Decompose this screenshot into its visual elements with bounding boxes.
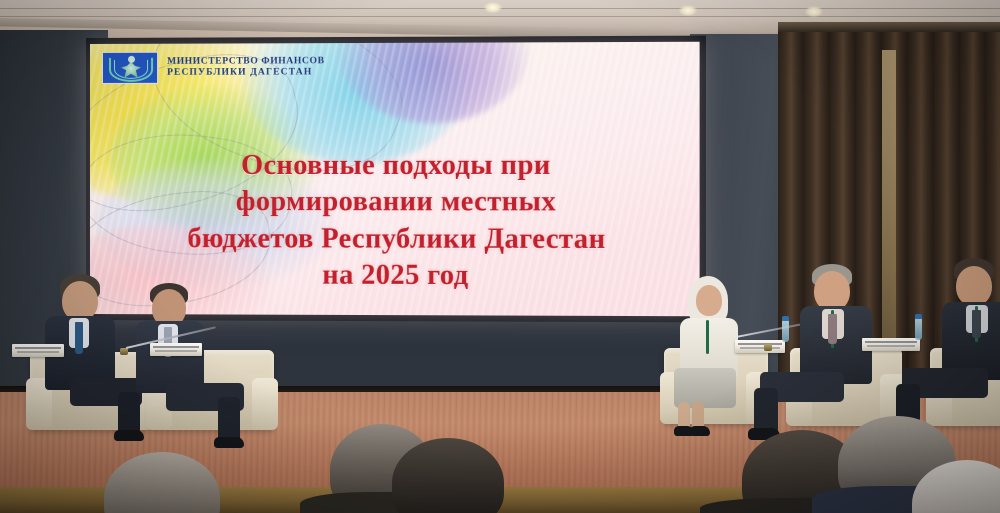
downlight-icon <box>805 6 823 17</box>
head <box>696 285 722 316</box>
necktie <box>75 322 83 354</box>
slide-title-line-3: бюджетов Республики Дагестан <box>128 221 667 259</box>
head <box>956 266 992 306</box>
dagestan-coat-of-arms-icon <box>102 52 158 84</box>
microphone-base <box>764 344 772 351</box>
water-bottle <box>782 320 789 342</box>
head <box>814 271 850 311</box>
nameplate <box>735 340 785 353</box>
curtain-rod <box>778 22 1000 32</box>
slide-title: Основные подходы при формировании местны… <box>128 148 667 296</box>
ministry-name: МИНИСТЕРСТВО ФИНАНСОВ РЕСПУБЛИКИ ДАГЕСТА… <box>167 57 324 79</box>
slide-title-line-1: Основные подходы при <box>128 148 667 185</box>
head <box>62 281 98 321</box>
ministry-line-1: МИНИСТЕРСТВО ФИНАНСОВ <box>167 57 324 68</box>
nameplate <box>862 338 920 351</box>
microphone-base <box>120 348 128 355</box>
downlight-icon <box>484 2 502 13</box>
nameplate <box>12 344 64 357</box>
ministry-line-2: РЕСПУБЛИКИ ДАГЕСТАН <box>167 67 324 78</box>
slide-title-line-2: формировании местных <box>128 184 667 221</box>
downlight-icon <box>679 5 697 16</box>
conference-photo: МИНИСТЕРСТВО ФИНАНСОВ РЕСПУБЛИКИ ДАГЕСТА… <box>0 0 1000 513</box>
panelist-2 <box>132 283 247 443</box>
necktie <box>972 310 981 338</box>
nameplate <box>150 343 202 356</box>
projection-screen: МИНИСТЕРСТВО ФИНАНСОВ РЕСПУБЛИКИ ДАГЕСТА… <box>90 42 700 317</box>
lanyard <box>706 320 709 354</box>
panelist-5 <box>940 258 1000 436</box>
necktie <box>828 314 837 344</box>
shoe <box>690 426 710 436</box>
slide-ministry-header: МИНИСТЕРСТВО ФИНАНСОВ РЕСПУБЛИКИ ДАГЕСТА… <box>102 51 325 84</box>
water-bottle <box>915 318 922 340</box>
shoe <box>214 437 244 448</box>
